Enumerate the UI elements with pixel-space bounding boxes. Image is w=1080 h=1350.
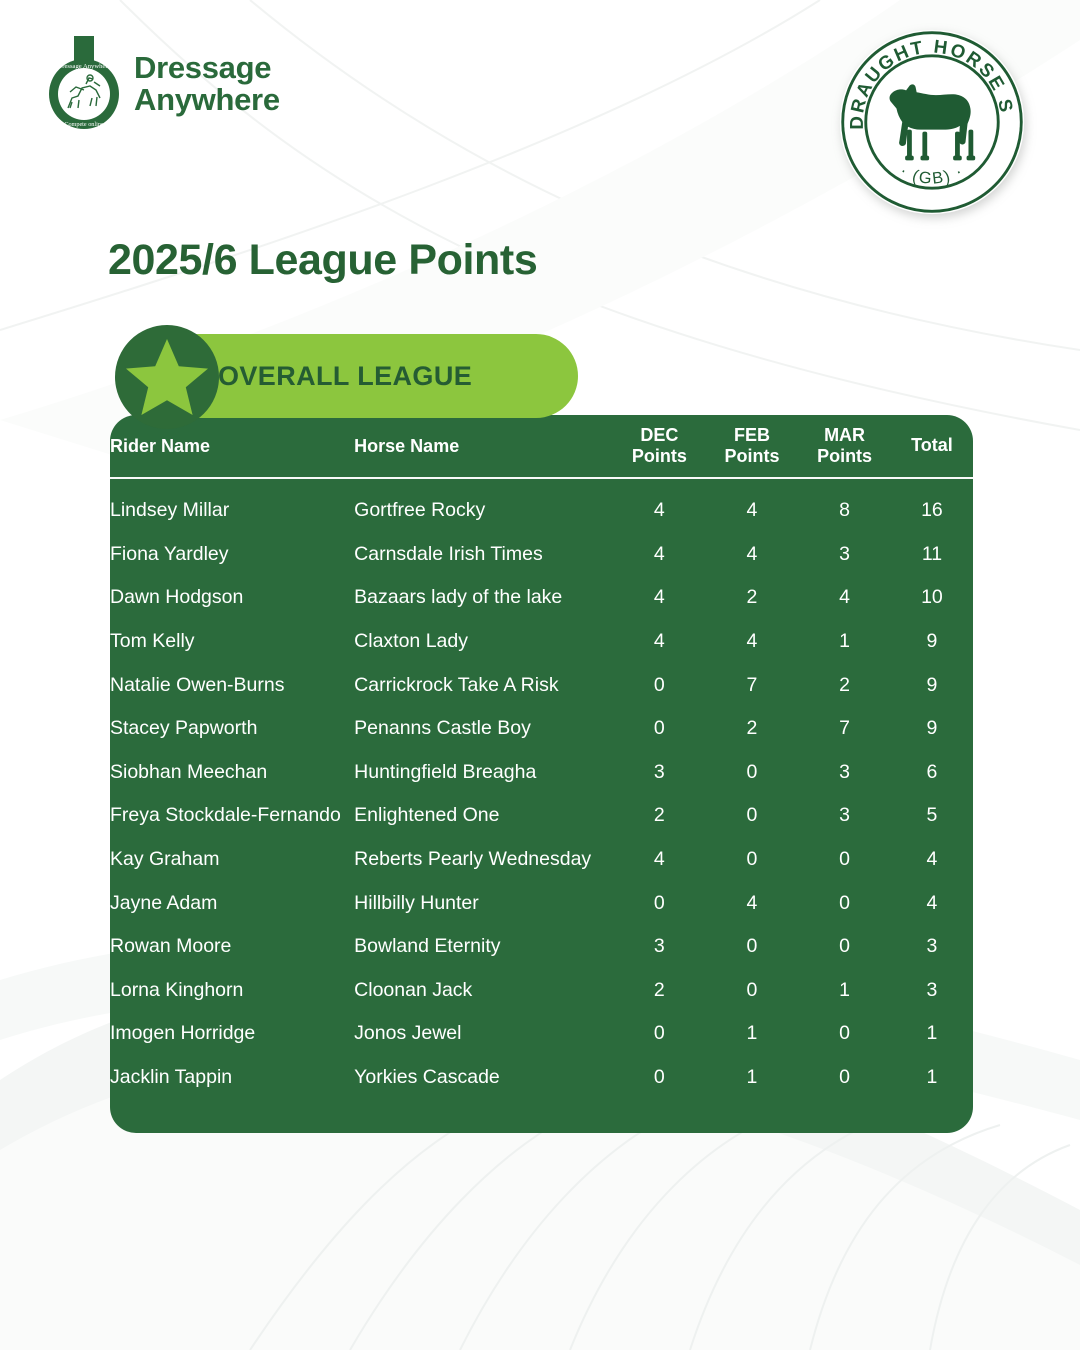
cell-horse: Cloonan Jack (354, 969, 613, 1013)
dressage-anywhere-logo: Dressage Anywhere Compete online Dressag… (44, 34, 280, 134)
cell-dec: 0 (613, 881, 706, 925)
page-title: 2025/6 League Points (108, 236, 537, 285)
cell-total: 5 (891, 794, 973, 838)
cell-dec: 3 (613, 925, 706, 969)
cell-rider: Siobhan Meechan (110, 751, 354, 795)
column-header-total: Total (891, 415, 973, 478)
cell-feb: 2 (706, 576, 799, 620)
cell-horse: Enlightened One (354, 794, 613, 838)
overall-league-card: OVERALL LEAGUE Rider Name Horse Name DEC… (110, 334, 975, 1134)
cell-horse: Penanns Castle Boy (354, 707, 613, 751)
cell-rider: Kay Graham (110, 838, 354, 882)
cell-feb: 0 (706, 794, 799, 838)
column-header-horse-name: Horse Name (354, 415, 613, 478)
table-row: Jayne AdamHillbilly Hunter0404 (110, 881, 973, 925)
cell-mar: 2 (798, 663, 891, 707)
cell-total: 10 (891, 576, 973, 620)
cell-mar: 8 (798, 478, 891, 533)
cell-dec: 4 (613, 576, 706, 620)
cell-feb: 0 (706, 925, 799, 969)
cell-rider: Tom Kelly (110, 620, 354, 664)
cell-dec: 4 (613, 838, 706, 882)
cell-mar: 3 (798, 533, 891, 577)
cell-mar: 0 (798, 1012, 891, 1056)
table-row: Rowan MooreBowland Eternity3003 (110, 925, 973, 969)
league-points-table: Rider Name Horse Name DEC Points FEB Poi… (110, 415, 973, 1099)
table-row: Stacey PapworthPenanns Castle Boy0279 (110, 707, 973, 751)
cell-feb: 4 (706, 478, 799, 533)
column-header-mar-points: MAR Points (798, 415, 891, 478)
table-header-row: Rider Name Horse Name DEC Points FEB Poi… (110, 415, 973, 478)
cell-feb: 0 (706, 969, 799, 1013)
dressage-anywhere-wordmark: Dressage Anywhere (134, 52, 280, 115)
table-row: Dawn HodgsonBazaars lady of the lake4241… (110, 576, 973, 620)
cell-mar: 1 (798, 969, 891, 1013)
cell-horse: Claxton Lady (354, 620, 613, 664)
cell-total: 9 (891, 620, 973, 664)
cell-rider: Stacey Papworth (110, 707, 354, 751)
cell-horse: Carnsdale Irish Times (354, 533, 613, 577)
cell-total: 9 (891, 707, 973, 751)
cell-horse: Yorkies Cascade (354, 1056, 613, 1100)
cell-total: 4 (891, 881, 973, 925)
cell-total: 1 (891, 1012, 973, 1056)
cell-mar: 0 (798, 881, 891, 925)
table-row: Jacklin TappinYorkies Cascade0101 (110, 1056, 973, 1100)
cell-total: 6 (891, 751, 973, 795)
cell-horse: Jonos Jewel (354, 1012, 613, 1056)
cell-feb: 0 (706, 751, 799, 795)
cell-horse: Gortfree Rocky (354, 478, 613, 533)
cell-horse: Carrickrock Take A Risk (354, 663, 613, 707)
cell-dec: 0 (613, 1056, 706, 1100)
cell-dec: 2 (613, 794, 706, 838)
cell-mar: 1 (798, 620, 891, 664)
cell-mar: 0 (798, 1056, 891, 1100)
table-row: Freya Stockdale-FernandoEnlightened One2… (110, 794, 973, 838)
header: Dressage Anywhere Compete online Dressag… (0, 0, 1080, 240)
irish-draught-horse-society-logo: IRISH DRAUGHT HORSE SOCIETY · (GB) · (836, 26, 1028, 218)
cell-horse: Bazaars lady of the lake (354, 576, 613, 620)
cell-dec: 3 (613, 751, 706, 795)
cell-mar: 0 (798, 838, 891, 882)
da-badge-bottom-text: Compete online (64, 121, 104, 128)
cell-rider: Fiona Yardley (110, 533, 354, 577)
cell-rider: Dawn Hodgson (110, 576, 354, 620)
cell-total: 1 (891, 1056, 973, 1100)
cell-horse: Bowland Eternity (354, 925, 613, 969)
cell-rider: Rowan Moore (110, 925, 354, 969)
cell-feb: 7 (706, 663, 799, 707)
cell-rider: Imogen Horridge (110, 1012, 354, 1056)
table-row: Natalie Owen-BurnsCarrickrock Take A Ris… (110, 663, 973, 707)
column-header-rider-name: Rider Name (110, 415, 354, 478)
table-row: Tom KellyClaxton Lady4419 (110, 620, 973, 664)
cell-mar: 7 (798, 707, 891, 751)
cell-mar: 4 (798, 576, 891, 620)
cell-feb: 4 (706, 533, 799, 577)
table-row: Lorna KinghornCloonan Jack2013 (110, 969, 973, 1013)
cell-feb: 1 (706, 1056, 799, 1100)
cell-rider: Freya Stockdale-Fernando (110, 794, 354, 838)
cell-horse: Huntingfield Breagha (354, 751, 613, 795)
cell-dec: 4 (613, 478, 706, 533)
table-row: Lindsey MillarGortfree Rocky44816 (110, 478, 973, 533)
column-header-feb-points: FEB Points (706, 415, 799, 478)
table-row: Imogen HorridgeJonos Jewel0101 (110, 1012, 973, 1056)
cell-total: 16 (891, 478, 973, 533)
cell-feb: 0 (706, 838, 799, 882)
table-row: Fiona YardleyCarnsdale Irish Times44311 (110, 533, 973, 577)
cell-feb: 1 (706, 1012, 799, 1056)
da-badge-top-text: Dressage Anywhere (58, 63, 111, 70)
cell-rider: Lindsey Millar (110, 478, 354, 533)
dressage-anywhere-medal-icon: Dressage Anywhere Compete online (44, 34, 124, 134)
cell-horse: Reberts Pearly Wednesday (354, 838, 613, 882)
cell-mar: 3 (798, 794, 891, 838)
cell-total: 3 (891, 969, 973, 1013)
cell-dec: 0 (613, 663, 706, 707)
table-body: Lindsey MillarGortfree Rocky44816Fiona Y… (110, 478, 973, 1099)
cell-rider: Jayne Adam (110, 881, 354, 925)
cell-dec: 4 (613, 533, 706, 577)
cell-horse: Hillbilly Hunter (354, 881, 613, 925)
cell-rider: Jacklin Tappin (110, 1056, 354, 1100)
cell-total: 3 (891, 925, 973, 969)
column-header-dec-points: DEC Points (613, 415, 706, 478)
league-banner-label: OVERALL LEAGUE (218, 361, 472, 392)
cell-dec: 0 (613, 1012, 706, 1056)
cell-rider: Lorna Kinghorn (110, 969, 354, 1013)
cell-rider: Natalie Owen-Burns (110, 663, 354, 707)
cell-dec: 2 (613, 969, 706, 1013)
cell-total: 11 (891, 533, 973, 577)
cell-feb: 2 (706, 707, 799, 751)
cell-dec: 4 (613, 620, 706, 664)
star-icon (115, 325, 219, 429)
table-row: Siobhan MeechanHuntingfield Breagha3036 (110, 751, 973, 795)
cell-feb: 4 (706, 620, 799, 664)
cell-feb: 4 (706, 881, 799, 925)
cell-total: 4 (891, 838, 973, 882)
cell-total: 9 (891, 663, 973, 707)
cell-dec: 0 (613, 707, 706, 751)
cell-mar: 0 (798, 925, 891, 969)
cell-mar: 3 (798, 751, 891, 795)
table-row: Kay GrahamReberts Pearly Wednesday4004 (110, 838, 973, 882)
